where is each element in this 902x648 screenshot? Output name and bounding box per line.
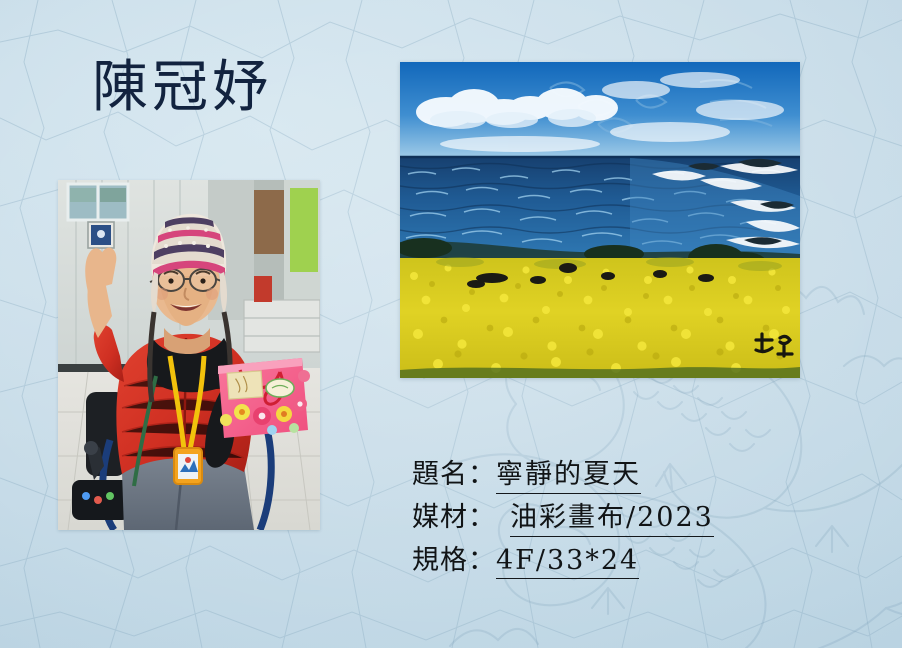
caption-value-title: 寧靜的夏天 bbox=[496, 452, 641, 494]
artist-portrait-photo[interactable] bbox=[58, 180, 320, 530]
artist-profile-slide: 陳冠妤 bbox=[0, 0, 902, 648]
caption-label-size: 規格： bbox=[412, 538, 496, 577]
caption-row-size: 規格： 4F/33*24 bbox=[412, 538, 714, 581]
caption-value-size: 4F/33*24 bbox=[496, 545, 639, 579]
caption-row-medium: 媒材： 油彩畫布/2023 bbox=[412, 495, 714, 538]
caption-label-title: 題名： bbox=[412, 452, 496, 491]
artwork-image[interactable] bbox=[400, 62, 800, 378]
caption-value-medium: 油彩畫布/2023 bbox=[510, 495, 714, 537]
caption-row-title: 題名： 寧靜的夏天 bbox=[412, 452, 714, 495]
caption-label-medium: 媒材： bbox=[412, 495, 496, 534]
artwork-illustration bbox=[400, 62, 800, 378]
portrait-illustration bbox=[58, 180, 320, 530]
artwork-caption: 題名： 寧靜的夏天 媒材： 油彩畫布/2023 規格： 4F/33*24 bbox=[412, 452, 714, 581]
artist-name: 陳冠妤 bbox=[92, 56, 272, 120]
